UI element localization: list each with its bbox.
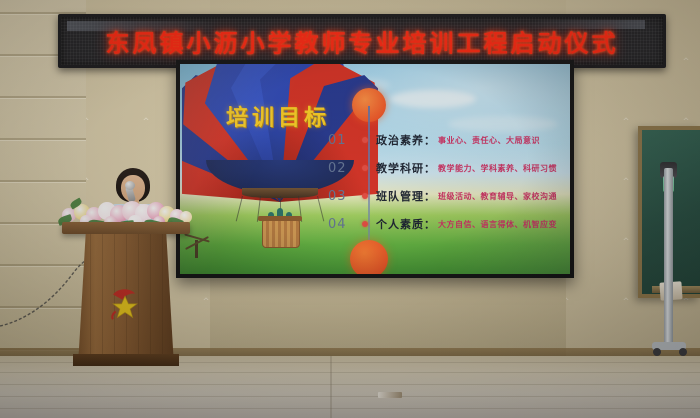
timeline-node-bottom [350,240,388,274]
projection-screen: 培训目标 01政治素养：事业心、责任心、大局意识02教学科研：教学能力、学科素养… [180,64,570,274]
led-banner-text: 东凤镇小沥小学教师专业培训工程启动仪式 [61,24,663,59]
slide-objective-list: 01政治素养：事业心、责任心、大局意识02教学科研：教学能力、学科素养、科研习惯… [328,126,570,238]
balloon-basket [262,220,300,248]
objective-heading: 个人素质： [376,216,436,232]
floor-seam [330,356,332,418]
objective-bullet-dot [362,221,368,227]
slide-title: 培训目标 [226,100,330,132]
slide-objective-row: 02教学科研：教学能力、学科素养、科研习惯 [328,154,570,182]
objective-bullet-dot [362,165,368,171]
podium-base [73,354,179,366]
slide-objective-row: 04个人素质：大方自信、语言得体、机智应变 [328,210,570,238]
slide-objective-row: 01政治素养：事业心、责任心、大局意识 [328,126,570,154]
school-star-emblem-icon [108,286,142,320]
objective-bullet-dot [362,137,368,143]
objective-number: 01 [328,133,358,148]
cloud-1 [390,90,476,108]
objective-number: 04 [328,217,358,232]
microphone-head-icon [125,181,135,190]
objective-detail: 班级活动、教育辅导、家校沟通 [438,191,557,202]
objective-heading: 班队管理： [376,188,436,204]
objective-detail: 教学能力、学科素养、科研习惯 [438,163,557,174]
objective-bullet-dot [362,193,368,199]
stand-caster [679,348,687,356]
objective-number: 02 [328,161,358,176]
projection-screen-frame: 培训目标 01政治素养：事业心、责任心、大局意识02教学科研：教学能力、学科素养… [176,60,574,278]
objective-heading: 教学科研： [376,160,436,176]
equipment-stand-pole [664,168,673,346]
objective-heading: 政治素养： [376,132,436,148]
objective-detail: 事业心、责任心、大局意识 [438,135,540,146]
objective-number: 03 [328,189,358,204]
objective-detail: 大方自信、语言得体、机智应变 [438,219,557,230]
podium-desktop [62,222,190,234]
photo-scene: 东凤镇小沥小学教师专业培训工程启动仪式 [0,0,700,418]
floor-debris [378,392,402,398]
stand-caster [653,348,661,356]
slide-objective-row: 03班队管理：班级活动、教育辅导、家校沟通 [328,182,570,210]
